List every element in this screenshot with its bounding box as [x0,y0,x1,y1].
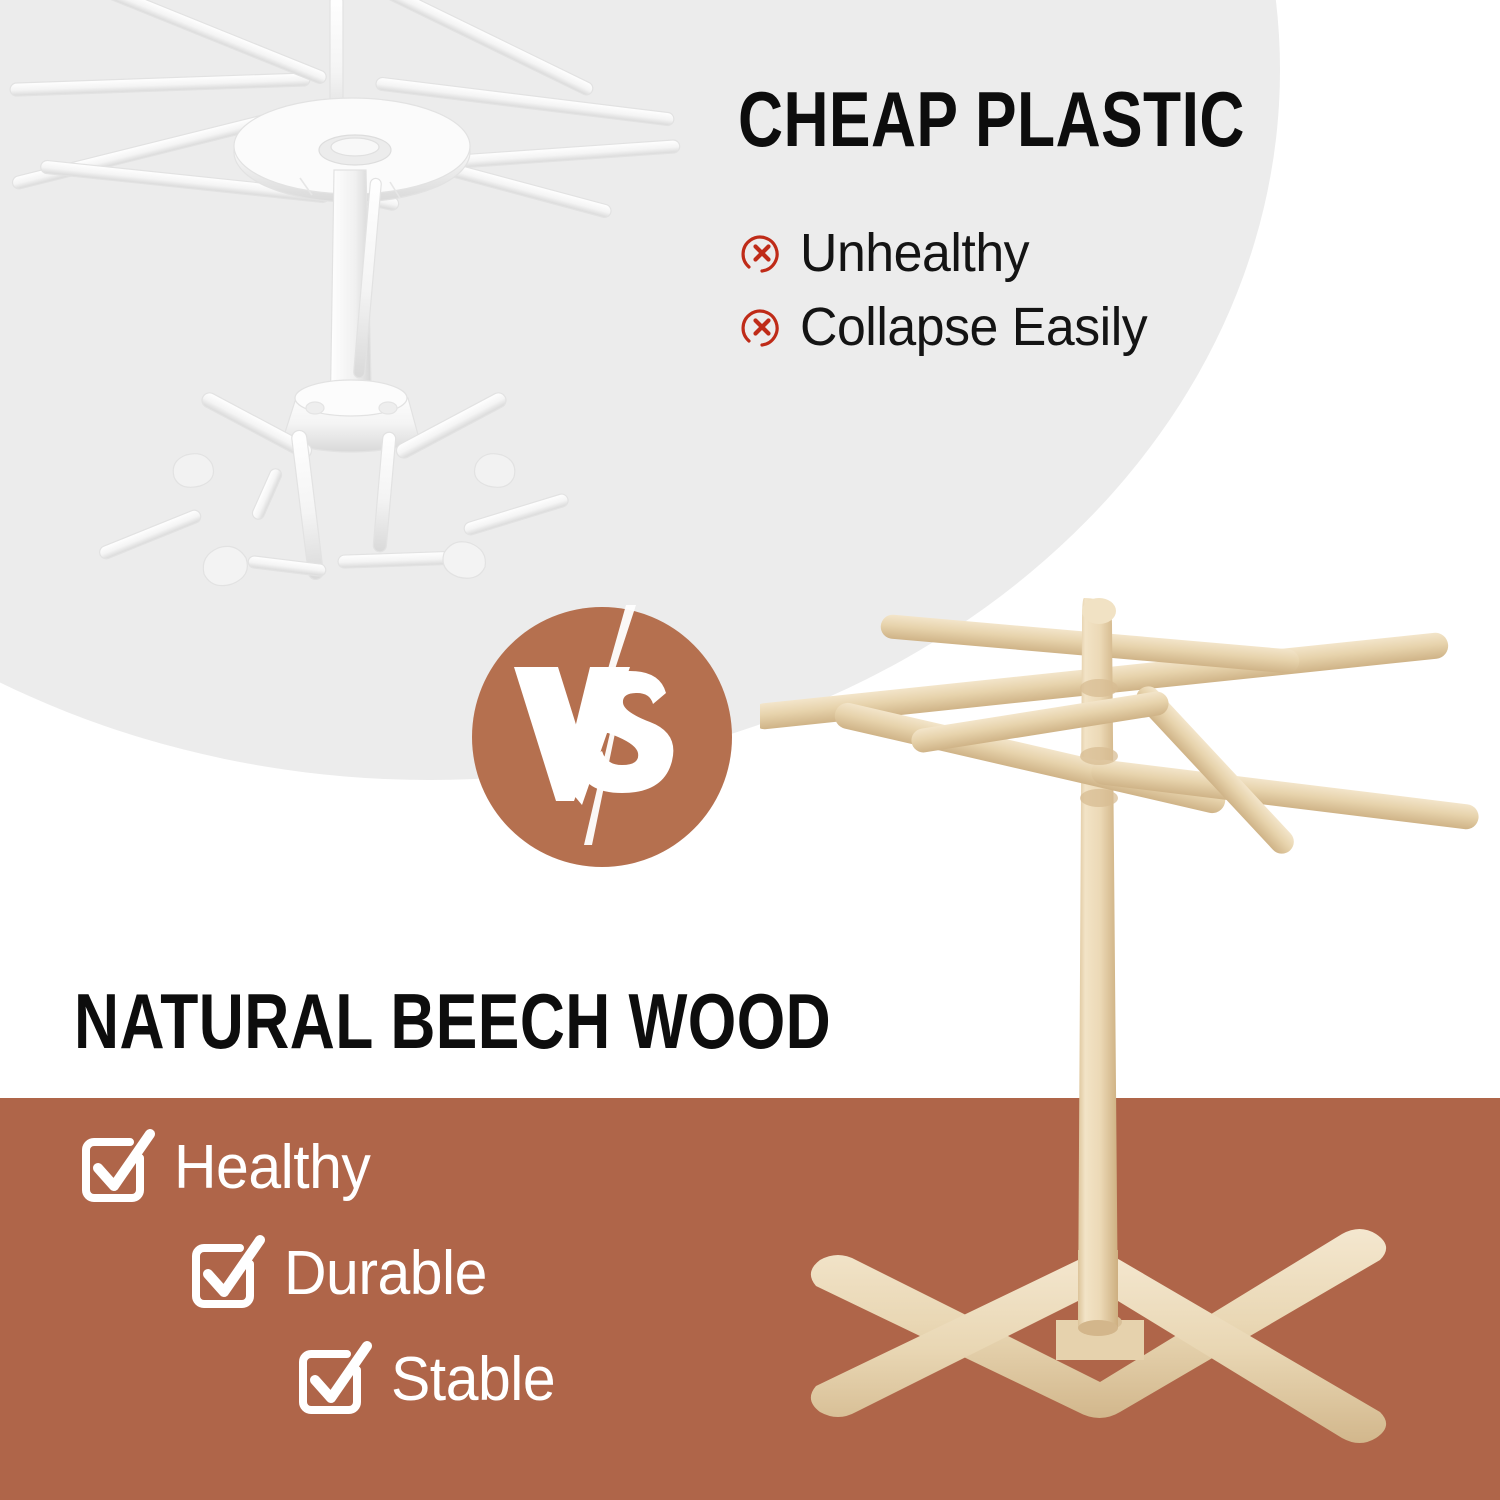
list-item: Stable [295,1340,900,1418]
comparison-infographic: CHEAP PLASTIC NATURAL BEECH WOOD Unhealt… [0,0,1500,1500]
circle-x-icon [740,305,784,349]
checkbox-checked-icon [188,1234,266,1312]
list-item: Collapse Easily [740,296,1162,358]
checkbox-checked-icon [78,1128,156,1206]
list-item: Durable [188,1234,900,1312]
vs-badge [470,605,735,870]
pro-label: Healthy [174,1132,370,1203]
pro-label: Durable [284,1238,487,1309]
pros-list: Healthy Durable Stable [0,1128,900,1446]
pro-label: Stable [391,1344,555,1415]
cons-list: Unhealthy Collapse Easily [740,222,1162,358]
page-title-natural-beech-wood: NATURAL BEECH WOOD [74,976,831,1067]
circle-x-icon [740,231,784,275]
con-label: Collapse Easily [800,296,1147,358]
plastic-rack-image [0,0,700,640]
con-label: Unhealthy [800,222,1029,284]
list-item: Unhealthy [740,222,1162,284]
list-item: Healthy [78,1128,900,1206]
checkbox-checked-icon [295,1340,373,1418]
page-title-cheap-plastic: CHEAP PLASTIC [738,74,1245,165]
